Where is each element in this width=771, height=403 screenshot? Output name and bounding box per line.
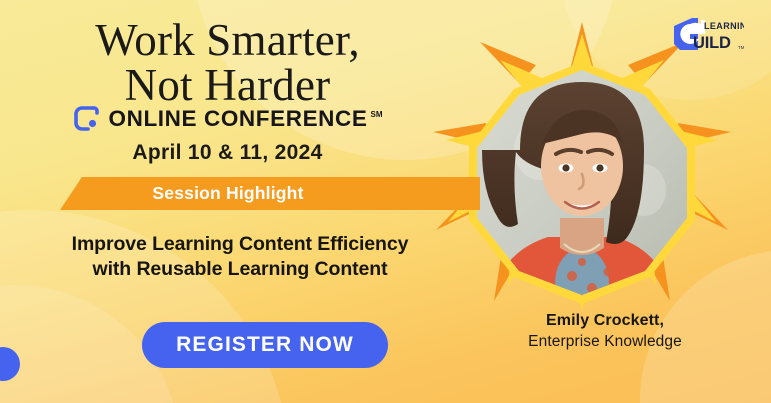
service-mark: SM bbox=[370, 110, 382, 119]
session-title: Improve Learning Content Efficiency with… bbox=[0, 232, 480, 282]
conference-lockup: ONLINE CONFERENCESM bbox=[0, 105, 455, 132]
blue-dot-accent bbox=[0, 347, 20, 381]
speaker-name: Emily Crockett, bbox=[460, 312, 750, 330]
conference-dates: April 10 & 11, 2024 bbox=[0, 141, 455, 165]
speaker-credit: Emily Crockett, Enterprise Knowledge bbox=[460, 312, 750, 351]
speaker-organization: Enterprise Knowledge bbox=[460, 333, 750, 351]
promo-card: Work Smarter, Not Harder ONLINE CONFEREN… bbox=[0, 0, 771, 403]
page-title: Work Smarter, Not Harder bbox=[0, 18, 455, 108]
conference-name: ONLINE CONFERENCESM bbox=[109, 106, 383, 132]
session-title-line-2: with Reusable Learning Content bbox=[0, 257, 480, 282]
register-now-button[interactable]: REGISTER NOW bbox=[142, 322, 388, 368]
brand-bottom-word: UILD bbox=[693, 34, 731, 52]
learning-guild-logo: LEARNING UILD TM bbox=[668, 14, 744, 54]
session-highlight-label: Session Highlight bbox=[152, 183, 303, 204]
headline-line-1: Work Smarter, bbox=[95, 15, 360, 65]
brand-trademark: TM bbox=[738, 45, 744, 50]
headline-line-2: Not Harder bbox=[0, 63, 455, 108]
online-conference-bracket-icon bbox=[73, 105, 100, 132]
session-highlight-banner: Session Highlight bbox=[60, 177, 480, 210]
brand-top-word: LEARNING bbox=[704, 21, 744, 31]
session-title-line-1: Improve Learning Content Efficiency bbox=[72, 233, 409, 255]
